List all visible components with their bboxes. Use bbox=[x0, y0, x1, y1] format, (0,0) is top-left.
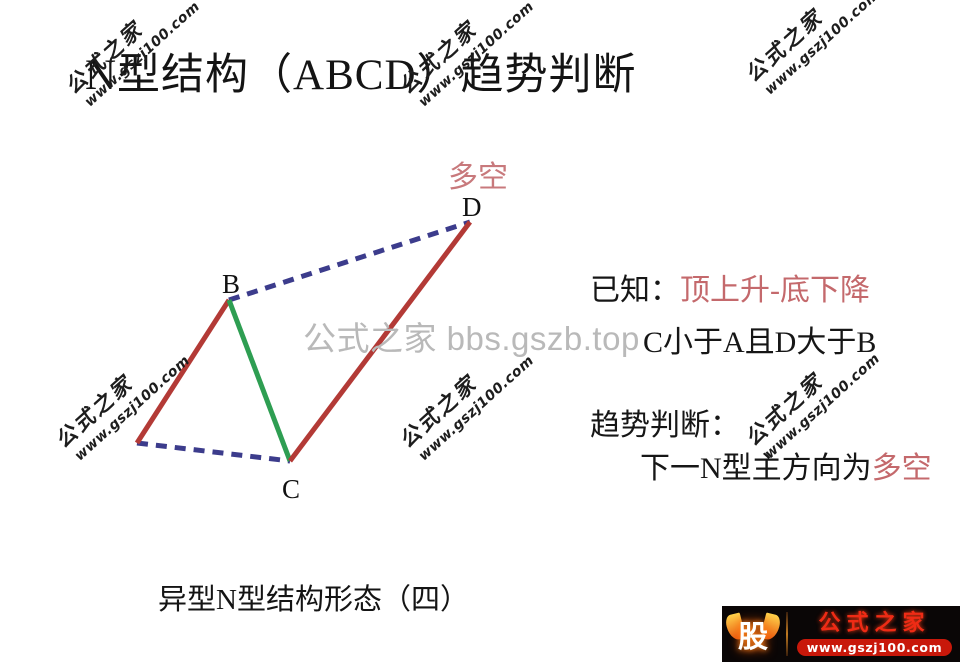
chart-segment-AB bbox=[137, 300, 229, 443]
chart-segment-BC bbox=[229, 300, 290, 461]
logo-bull-char: 股 bbox=[738, 612, 768, 656]
logo-site-url: www.gszj100.com bbox=[797, 639, 952, 656]
logo-divider bbox=[786, 612, 788, 656]
chart-segment-AC bbox=[137, 443, 290, 461]
slide-canvas: N型结构（ABCD）趋势判断 BCD 多空 已知：顶上升-底下降 C小于A且D大… bbox=[0, 0, 966, 666]
judgement-value-line: 下一N型主方向为多空 bbox=[640, 443, 932, 487]
known-condition-line: 已知：顶上升-底下降 bbox=[590, 265, 870, 309]
vertex-label-C: C bbox=[282, 474, 300, 505]
logo-text-group: 公式之家 www.gszj100.com bbox=[795, 612, 960, 655]
center-watermark: 公式之家 bbs.gszb.top bbox=[303, 312, 640, 360]
condition-line: C小于A且D大于B bbox=[643, 317, 876, 361]
known-value: 顶上升-底下降 bbox=[680, 274, 870, 307]
judgement-label: 趋势判断： bbox=[590, 400, 740, 444]
figure-caption: 异型N型结构形态（四） bbox=[158, 576, 469, 618]
judgement-prefix: 下一N型主方向为 bbox=[640, 452, 872, 485]
top-signal-label: 多空 bbox=[448, 152, 508, 196]
vertex-label-D: D bbox=[462, 192, 482, 223]
logo-site-name: 公式之家 bbox=[818, 612, 930, 635]
bull-icon: 股 bbox=[722, 606, 784, 662]
judgement-signal: 多空 bbox=[872, 452, 932, 485]
vertex-label-B: B bbox=[222, 269, 240, 300]
chart-segment-BD bbox=[229, 222, 470, 300]
known-label: 已知： bbox=[590, 274, 680, 307]
site-logo[interactable]: 股 公式之家 www.gszj100.com bbox=[722, 606, 960, 662]
